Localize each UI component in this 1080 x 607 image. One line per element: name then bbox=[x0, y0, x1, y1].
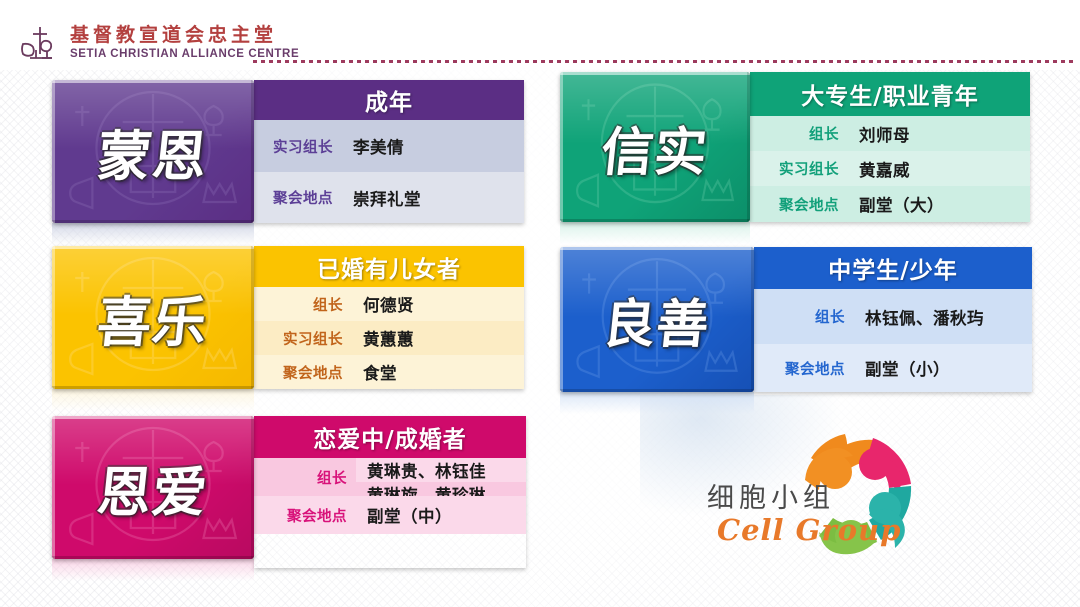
cell-group-tile-meng-en: 蒙恩 bbox=[52, 80, 254, 223]
row-value: 林钰佩、潘秋玙 bbox=[854, 289, 1032, 344]
cell-group-card-xi-le: 喜乐已婚有儿女者组长何德贤实习组长黄蕙蕙聚会地点食堂 bbox=[52, 246, 524, 389]
row-label: 组长 bbox=[254, 287, 352, 321]
cell-group-info-table-meng-en: 成年实习组长李美倩聚会地点崇拜礼堂 bbox=[254, 80, 524, 223]
cell-group-info-table-liang-shan: 中学生/少年组长林钰佩、潘秋玙聚会地点副堂（小） bbox=[754, 247, 1032, 392]
cell-group-logo: 细胞小组 Cell Group bbox=[655, 418, 955, 598]
cell-group-table-title-en-ai: 恋爱中/成婚者 bbox=[254, 416, 526, 458]
church-name-en: SETIA CHRISTIAN ALLIANCE CENTRE bbox=[70, 47, 299, 61]
row-label: 聚会地点 bbox=[254, 172, 342, 223]
cell-group-tile-xin-shi: 信实 bbox=[560, 72, 750, 222]
church-name-cn: 基督教宣道会忠主堂 bbox=[70, 25, 299, 45]
row-label: 聚会地点 bbox=[254, 355, 352, 389]
tile-bev-b bbox=[52, 220, 254, 223]
row-value: 李美倩 bbox=[342, 120, 524, 172]
cell-group-card-xin-shi: 信实大专生/职业青年组长刘师母实习组长黄嘉威聚会地点副堂（大） bbox=[560, 72, 1030, 222]
page-header: 基督教宣道会忠主堂 SETIA CHRISTIAN ALLIANCE CENTR… bbox=[0, 0, 1080, 70]
cell-group-table-title-xin-shi: 大专生/职业青年 bbox=[750, 72, 1030, 116]
row-value: 黄蕙蕙 bbox=[352, 321, 524, 355]
row-label: 聚会地点 bbox=[254, 496, 356, 534]
tile-bev-b bbox=[52, 556, 254, 559]
row-value: 何德贤 bbox=[352, 287, 524, 321]
row-value: 黄琳贵、林钰佳 bbox=[356, 458, 526, 482]
table-row: 组长黄琳贵、林钰佳黄琳旋、黄珍琳 bbox=[254, 458, 526, 496]
row-value: 刘师母 bbox=[848, 116, 1030, 151]
row-value: 副堂（大） bbox=[848, 186, 1030, 222]
cell-group-name-en-ai: 恩爱 bbox=[52, 416, 254, 559]
row-label: 组长 bbox=[254, 458, 356, 496]
row-value: 崇拜礼堂 bbox=[342, 172, 524, 223]
tile-bev-l bbox=[52, 416, 55, 559]
row-label: 实习组长 bbox=[750, 151, 848, 186]
tile-bev-l bbox=[52, 80, 55, 223]
cell-group-title-cn: 细胞小组 bbox=[707, 476, 835, 515]
cell-group-card-en-ai: 恩爱恋爱中/成婚者组长黄琳贵、林钰佳黄琳旋、黄珍琳聚会地点副堂（中） bbox=[52, 416, 526, 568]
row-label: 实习组长 bbox=[254, 321, 352, 355]
cell-group-table-title-liang-shan: 中学生/少年 bbox=[754, 247, 1032, 289]
row-value: 副堂（小） bbox=[854, 344, 1032, 392]
cell-group-name-xi-le: 喜乐 bbox=[52, 246, 254, 389]
row-label: 实习组长 bbox=[254, 120, 342, 172]
tile-bev-b bbox=[52, 386, 254, 389]
table-row: 聚会地点副堂（小） bbox=[754, 344, 1032, 392]
cell-group-title-en: Cell Group bbox=[717, 513, 901, 547]
tile-bev-t bbox=[52, 80, 254, 83]
cell-group-card-liang-shan: 良善中学生/少年组长林钰佩、潘秋玙聚会地点副堂（小） bbox=[560, 247, 1032, 392]
cell-group-table-title-xi-le: 已婚有儿女者 bbox=[254, 246, 524, 287]
cell-group-name-meng-en: 蒙恩 bbox=[52, 80, 254, 223]
table-row: 实习组长黄蕙蕙 bbox=[254, 321, 524, 355]
table-row: 组长刘师母 bbox=[750, 116, 1030, 151]
cell-group-name-xin-shi: 信实 bbox=[560, 72, 750, 222]
row-label: 组长 bbox=[750, 116, 848, 151]
tile-bev-l bbox=[560, 247, 563, 392]
header-dotted-divider bbox=[253, 60, 1073, 63]
tile-bev-t bbox=[560, 247, 754, 250]
cell-group-name-liang-shan: 良善 bbox=[560, 247, 754, 392]
table-row: 聚会地点食堂 bbox=[254, 355, 524, 389]
tile-bev-r bbox=[251, 246, 254, 389]
row-label: 聚会地点 bbox=[750, 186, 848, 222]
tile-bev-l bbox=[560, 72, 563, 222]
table-row: 实习组长李美倩 bbox=[254, 120, 524, 172]
tile-bev-r bbox=[747, 72, 750, 222]
tile-bev-b bbox=[560, 389, 754, 392]
church-chalice-cross-logo-icon bbox=[18, 24, 64, 64]
tile-bev-t bbox=[52, 246, 254, 249]
row-label: 组长 bbox=[754, 289, 854, 344]
tile-bev-t bbox=[52, 416, 254, 419]
church-logo-text: 基督教宣道会忠主堂 SETIA CHRISTIAN ALLIANCE CENTR… bbox=[70, 25, 299, 61]
cell-group-tile-xi-le: 喜乐 bbox=[52, 246, 254, 389]
cell-group-tile-en-ai: 恩爱 bbox=[52, 416, 254, 559]
cell-group-info-table-en-ai: 恋爱中/成婚者组长黄琳贵、林钰佳黄琳旋、黄珍琳聚会地点副堂（中） bbox=[254, 416, 526, 568]
row-value-stack: 黄琳贵、林钰佳黄琳旋、黄珍琳 bbox=[356, 458, 526, 496]
tile-bev-b bbox=[560, 219, 750, 222]
tile-bev-l bbox=[52, 246, 55, 389]
cell-group-info-table-xi-le: 已婚有儿女者组长何德贤实习组长黄蕙蕙聚会地点食堂 bbox=[254, 246, 524, 389]
table-row: 聚会地点副堂（中） bbox=[254, 496, 526, 534]
table-row: 实习组长黄嘉威 bbox=[750, 151, 1030, 186]
table-row: 组长何德贤 bbox=[254, 287, 524, 321]
tile-bev-t bbox=[560, 72, 750, 75]
tile-bev-r bbox=[251, 80, 254, 223]
row-value: 黄嘉威 bbox=[848, 151, 1030, 186]
table-row: 组长林钰佩、潘秋玙 bbox=[754, 289, 1032, 344]
row-label: 聚会地点 bbox=[754, 344, 854, 392]
tile-bev-r bbox=[251, 416, 254, 559]
cell-group-tile-liang-shan: 良善 bbox=[560, 247, 754, 392]
table-row: 聚会地点副堂（大） bbox=[750, 186, 1030, 222]
tile-bev-r bbox=[751, 247, 754, 392]
row-value: 食堂 bbox=[352, 355, 524, 389]
table-row: 聚会地点崇拜礼堂 bbox=[254, 172, 524, 223]
cell-group-card-meng-en: 蒙恩成年实习组长李美倩聚会地点崇拜礼堂 bbox=[52, 80, 524, 223]
cell-group-table-title-meng-en: 成年 bbox=[254, 80, 524, 120]
cell-group-info-table-xin-shi: 大专生/职业青年组长刘师母实习组长黄嘉威聚会地点副堂（大） bbox=[750, 72, 1030, 222]
row-value: 副堂（中） bbox=[356, 496, 526, 534]
church-logo: 基督教宣道会忠主堂 SETIA CHRISTIAN ALLIANCE CENTR… bbox=[18, 24, 299, 64]
